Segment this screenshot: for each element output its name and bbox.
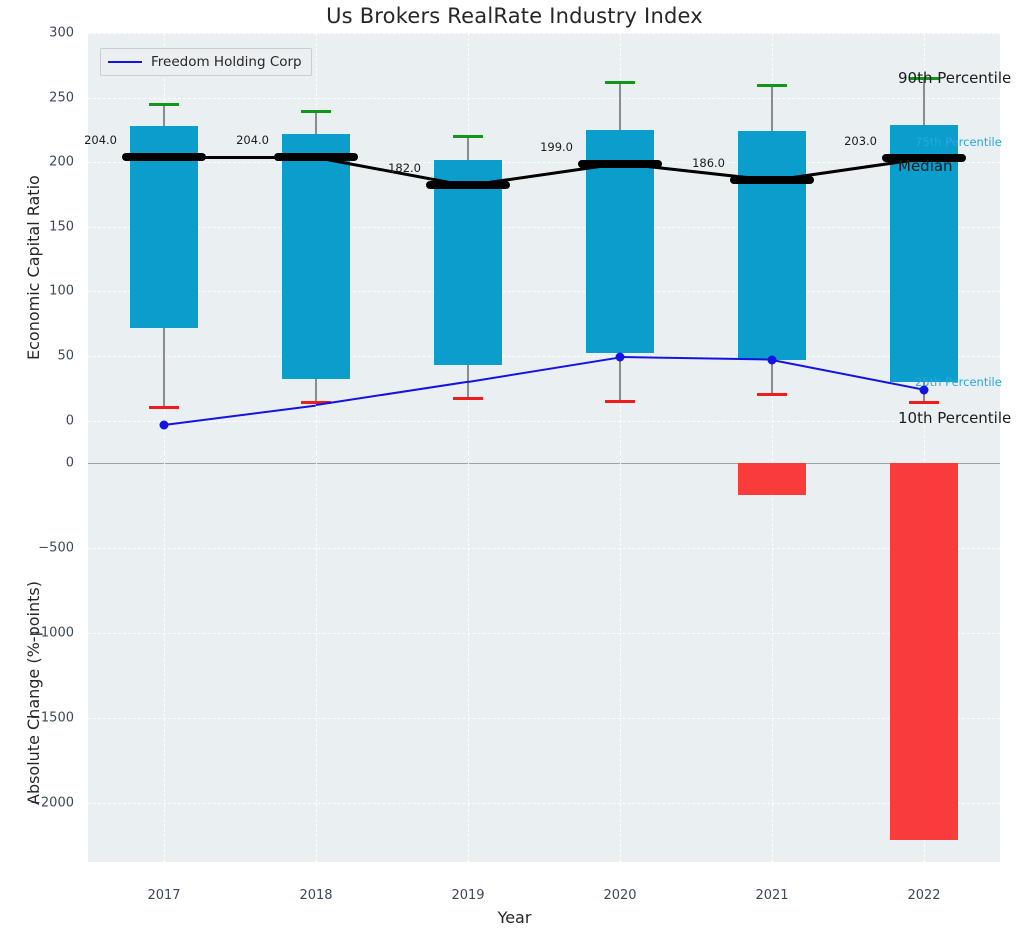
percentile-90-cap xyxy=(453,135,483,138)
median-value-label: 203.0 xyxy=(844,134,877,148)
gridline-vertical xyxy=(772,453,773,862)
absolute-change-bar xyxy=(890,463,958,840)
median-value-label: 186.0 xyxy=(692,156,725,170)
gridline-horizontal xyxy=(88,162,1000,163)
y-tick-label: 0 xyxy=(66,413,74,428)
percentile-90-cap xyxy=(757,84,787,87)
x-tick-label: 2021 xyxy=(755,888,788,903)
median-marker xyxy=(730,176,814,184)
percentile-10-cap xyxy=(453,397,483,400)
percentile-annotation: 25th Percentile xyxy=(915,375,1002,389)
gridline-horizontal xyxy=(88,227,1000,228)
percentile-annotation: 10th Percentile xyxy=(898,409,1011,427)
percentile-10-cap xyxy=(757,393,787,396)
y-tick-label: 300 xyxy=(49,26,74,41)
company-data-point xyxy=(616,353,625,362)
percentile-90-cap xyxy=(149,103,179,106)
absolute-change-panel xyxy=(88,453,1000,862)
x-tick-label: 2019 xyxy=(451,888,484,903)
y-tick-label: 200 xyxy=(49,155,74,170)
x-tick-label: 2020 xyxy=(603,888,636,903)
y-tick-label: 150 xyxy=(49,219,74,234)
y-tick-label: −500 xyxy=(38,541,74,556)
y-tick-label: 250 xyxy=(49,90,74,105)
y-axis-label-top: Economic Capital Ratio xyxy=(24,175,43,360)
x-tick-label: 2022 xyxy=(907,888,940,903)
percentile-annotation: 75th Percentile xyxy=(915,135,1002,149)
x-axis-label: Year xyxy=(0,908,1029,927)
x-tick-label: 2017 xyxy=(147,888,180,903)
gridline-vertical xyxy=(164,453,165,862)
economic-capital-ratio-panel xyxy=(88,33,1000,453)
percentile-10-cap xyxy=(149,406,179,409)
y-tick-label: 0 xyxy=(66,456,74,471)
y-tick-label: 100 xyxy=(49,284,74,299)
gridline-vertical xyxy=(468,453,469,862)
gridline-vertical xyxy=(620,453,621,862)
gridline-horizontal xyxy=(88,548,1000,549)
percentile-10-cap xyxy=(605,400,635,403)
gridline-horizontal xyxy=(88,98,1000,99)
percentile-10-cap xyxy=(909,401,939,404)
absolute-change-bar xyxy=(738,463,806,495)
percentile-90-cap xyxy=(301,110,331,113)
y-axis-label-bottom: Absolute Change (%-points) xyxy=(24,581,43,805)
gridline-horizontal xyxy=(88,291,1000,292)
median-marker xyxy=(578,160,662,168)
zero-axis-line xyxy=(88,463,1000,464)
gridline-horizontal xyxy=(88,633,1000,634)
x-tick-label: 2018 xyxy=(299,888,332,903)
y-tick-label: 50 xyxy=(57,349,74,364)
gridline-vertical xyxy=(316,453,317,862)
median-value-label: 204.0 xyxy=(84,133,117,147)
median-marker xyxy=(274,153,358,161)
percentile-annotation: 90th Percentile xyxy=(898,69,1011,87)
gridline-horizontal xyxy=(88,718,1000,719)
chart-title: Us Brokers RealRate Industry Index xyxy=(0,4,1029,28)
median-value-label: 199.0 xyxy=(540,140,573,154)
quartile-box xyxy=(738,131,806,360)
median-marker xyxy=(426,181,510,189)
percentile-90-cap xyxy=(605,81,635,84)
gridline-horizontal xyxy=(88,356,1000,357)
company-data-point xyxy=(768,355,777,364)
company-data-point xyxy=(160,420,169,429)
quartile-box xyxy=(282,134,350,380)
percentile-annotation: Median xyxy=(898,157,953,175)
gridline-horizontal xyxy=(88,803,1000,804)
legend-line-swatch xyxy=(108,61,142,63)
gridline-horizontal xyxy=(88,33,1000,34)
quartile-box xyxy=(434,160,502,365)
legend-label: Freedom Holding Corp xyxy=(151,54,302,70)
chart-legend[interactable]: Freedom Holding Corp xyxy=(100,48,312,76)
gridline-horizontal xyxy=(88,421,1000,422)
median-value-label: 182.0 xyxy=(388,161,421,175)
median-marker xyxy=(122,153,206,161)
median-value-label: 204.0 xyxy=(236,133,269,147)
